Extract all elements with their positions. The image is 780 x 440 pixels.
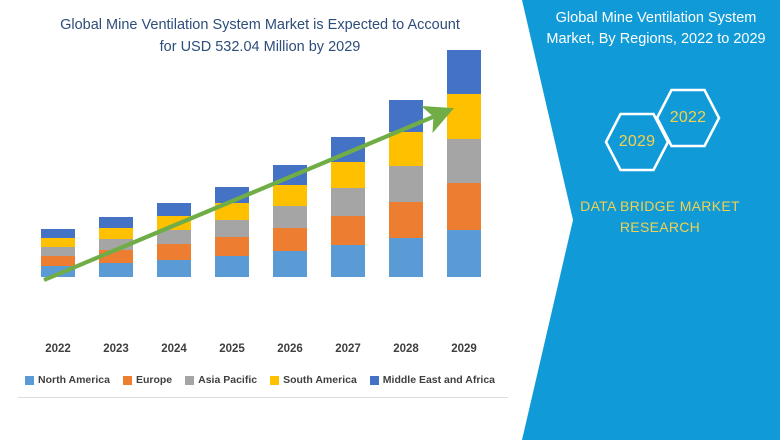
x-axis-label: 2024 xyxy=(145,343,203,355)
bar-segment xyxy=(157,244,191,260)
bar-segment xyxy=(157,216,191,230)
legend-item[interactable]: Europe xyxy=(123,374,172,386)
chart-title-line-1: Global Mine Ventilation System Market is… xyxy=(34,14,486,36)
legend-label: Asia Pacific xyxy=(198,374,257,386)
bar-segment xyxy=(41,247,75,256)
brand-name-line-1: DATA BRIDGE MARKET xyxy=(560,196,760,217)
hexagon-2029-label: 2029 xyxy=(604,112,670,172)
bar-segment xyxy=(273,206,307,228)
bar-segment xyxy=(273,185,307,206)
bar-column xyxy=(273,165,307,277)
bar-column xyxy=(99,217,133,277)
bar-segment xyxy=(389,202,423,238)
brand-name: DATA BRIDGE MARKET RESEARCH xyxy=(560,196,760,238)
legend-item[interactable]: Asia Pacific xyxy=(185,374,257,386)
legend-item[interactable]: Middle East and Africa xyxy=(370,374,495,386)
bar-segment xyxy=(99,217,133,228)
bar-segment xyxy=(447,183,481,230)
hexagon-2029-icon: 2029 xyxy=(604,112,670,172)
chart-legend: North AmericaEuropeAsia PacificSouth Ame… xyxy=(0,374,520,386)
legend-label: South America xyxy=(283,374,357,386)
bar-segment xyxy=(41,229,75,238)
brand-panel-title: Global Mine Ventilation System Market, B… xyxy=(540,8,772,50)
bar-segment xyxy=(273,165,307,185)
x-axis-label: 2028 xyxy=(377,343,435,355)
chart-title: Global Mine Ventilation System Market is… xyxy=(34,14,486,58)
bar-segment xyxy=(273,228,307,251)
bar-segment xyxy=(331,216,365,245)
bar-segment xyxy=(273,251,307,277)
x-axis-label: 2027 xyxy=(319,343,377,355)
bar-segment xyxy=(331,137,365,162)
bar-segment xyxy=(447,230,481,277)
bar-segment xyxy=(99,239,133,250)
legend-swatch-icon xyxy=(123,376,132,385)
legend-label: Europe xyxy=(136,374,172,386)
legend-swatch-icon xyxy=(25,376,34,385)
bar-segment xyxy=(41,266,75,277)
bar-segment xyxy=(215,256,249,277)
bar-column xyxy=(41,229,75,277)
bar-segment xyxy=(99,250,133,263)
bar-segment xyxy=(157,203,191,216)
bar-column xyxy=(331,137,365,277)
bar-segment xyxy=(331,245,365,277)
bar-segment xyxy=(389,100,423,132)
bar-segment xyxy=(99,228,133,239)
chart-baseline xyxy=(18,397,508,398)
bar-segment xyxy=(215,203,249,220)
legend-label: North America xyxy=(38,374,110,386)
bar-segment xyxy=(41,238,75,247)
chart-plot-area xyxy=(0,60,520,340)
bar-segment xyxy=(157,230,191,244)
legend-label: Middle East and Africa xyxy=(383,374,495,386)
bar-segment xyxy=(157,260,191,277)
x-axis-tick-labels: 20222023202420252026202720282029 xyxy=(0,343,520,363)
bar-segment xyxy=(447,50,481,94)
bar-column xyxy=(157,203,191,277)
bar-segment xyxy=(389,132,423,166)
x-axis-label: 2026 xyxy=(261,343,319,355)
bar-segment xyxy=(41,256,75,266)
x-axis-label: 2025 xyxy=(203,343,261,355)
bar-segment xyxy=(447,139,481,183)
bar-segment xyxy=(215,237,249,256)
bar-column xyxy=(389,100,423,277)
bar-segment xyxy=(215,187,249,203)
legend-swatch-icon xyxy=(270,376,279,385)
bar-segment xyxy=(331,188,365,216)
bar-segment xyxy=(99,263,133,277)
chart-title-line-2: for USD 532.04 Million by 2029 xyxy=(34,36,486,58)
bar-column xyxy=(215,187,249,277)
x-axis-label: 2023 xyxy=(87,343,145,355)
x-axis-label: 2029 xyxy=(435,343,493,355)
brand-name-line-2: RESEARCH xyxy=(560,217,760,238)
infographic-page: Global Mine Ventilation System Market is… xyxy=(0,0,780,440)
bar-segment xyxy=(331,162,365,188)
bar-segment xyxy=(215,220,249,237)
bar-segment xyxy=(447,94,481,139)
brand-title-line-2: Market, By Regions, 2022 to 2029 xyxy=(540,29,772,50)
legend-swatch-icon xyxy=(370,376,379,385)
brand-title-line-1: Global Mine Ventilation System xyxy=(540,8,772,29)
legend-item[interactable]: North America xyxy=(25,374,110,386)
bar-segment xyxy=(389,166,423,202)
legend-item[interactable]: South America xyxy=(270,374,357,386)
bar-segment xyxy=(389,238,423,277)
bar-column xyxy=(447,50,481,277)
legend-swatch-icon xyxy=(185,376,194,385)
x-axis-label: 2022 xyxy=(29,343,87,355)
